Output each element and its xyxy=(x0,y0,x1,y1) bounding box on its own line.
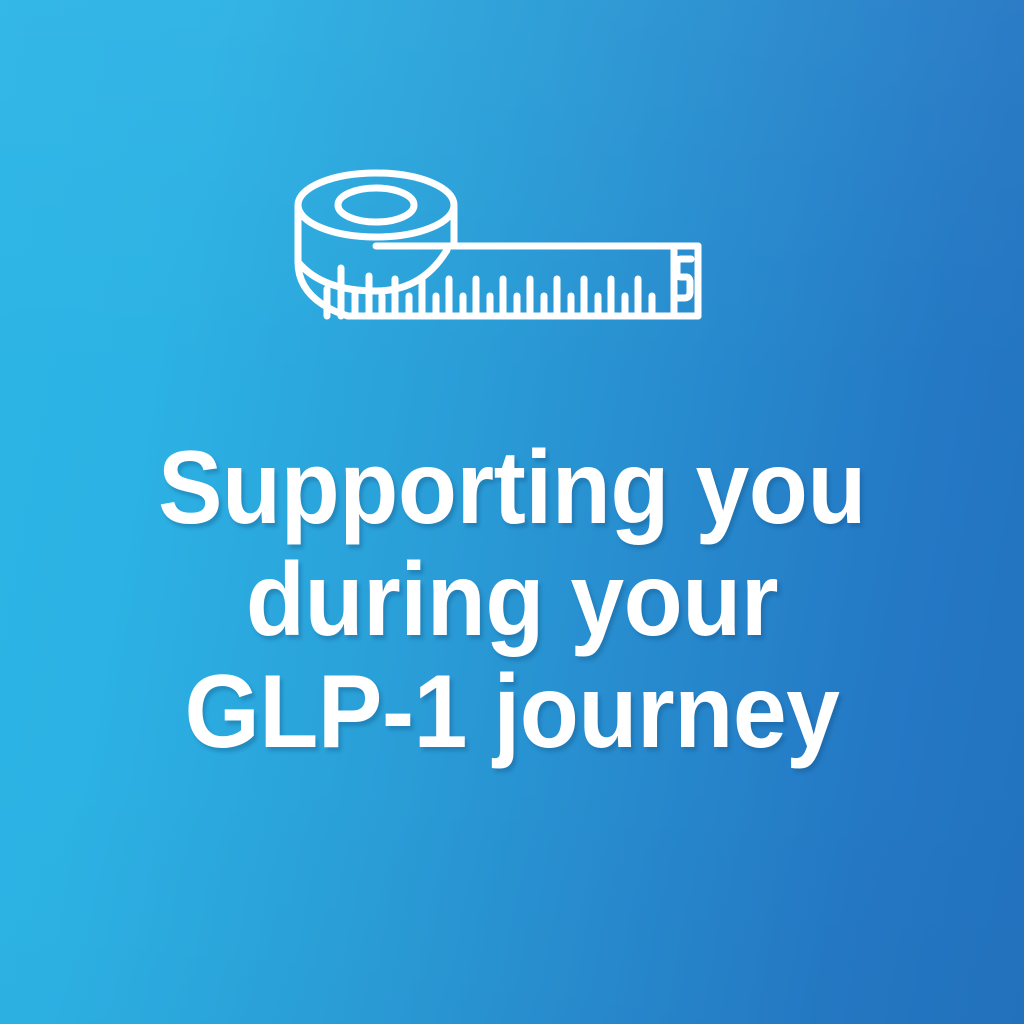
roll-hole-ellipse xyxy=(338,188,414,222)
headline-line-3: GLP-1 journey xyxy=(58,656,966,768)
headline-line-2: during your xyxy=(58,544,966,656)
tape-clip-hook xyxy=(677,259,691,298)
headline-line-1: Supporting you xyxy=(58,432,966,544)
promo-card: Supporting you during your GLP-1 journey xyxy=(0,0,1024,1024)
measuring-tape-icon xyxy=(282,158,742,344)
headline: Supporting you during your GLP-1 journey xyxy=(0,432,1024,768)
roll-outer-top-ellipse xyxy=(298,173,454,237)
measuring-tape-icon-container xyxy=(0,158,1024,344)
